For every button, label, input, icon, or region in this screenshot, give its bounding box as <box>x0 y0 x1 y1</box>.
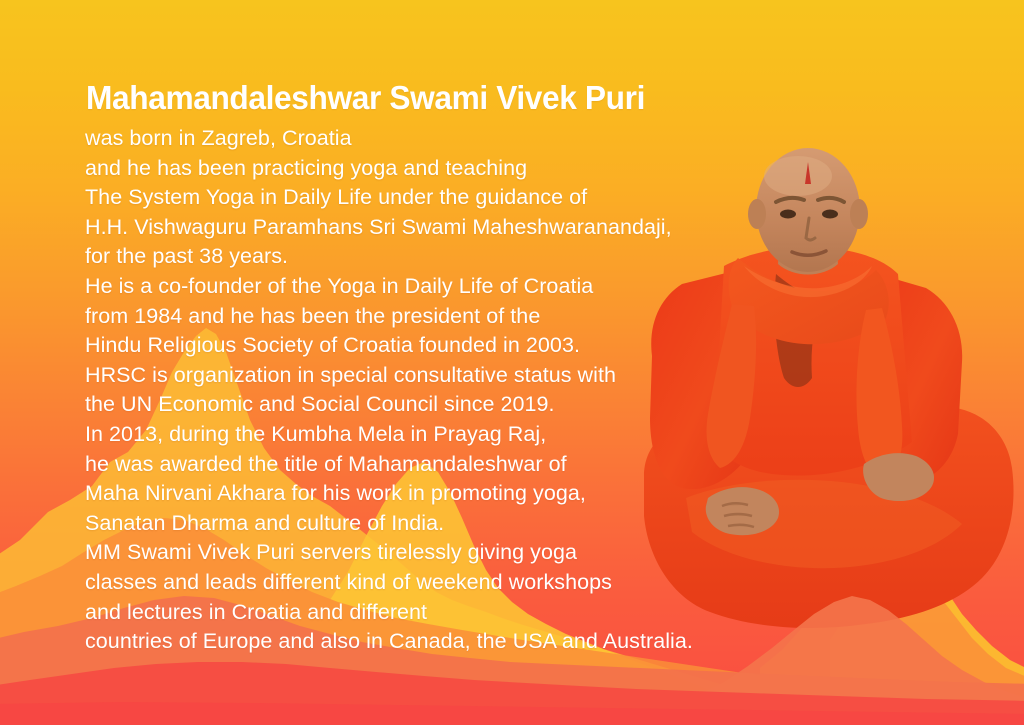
swami-photo <box>626 146 1024 646</box>
